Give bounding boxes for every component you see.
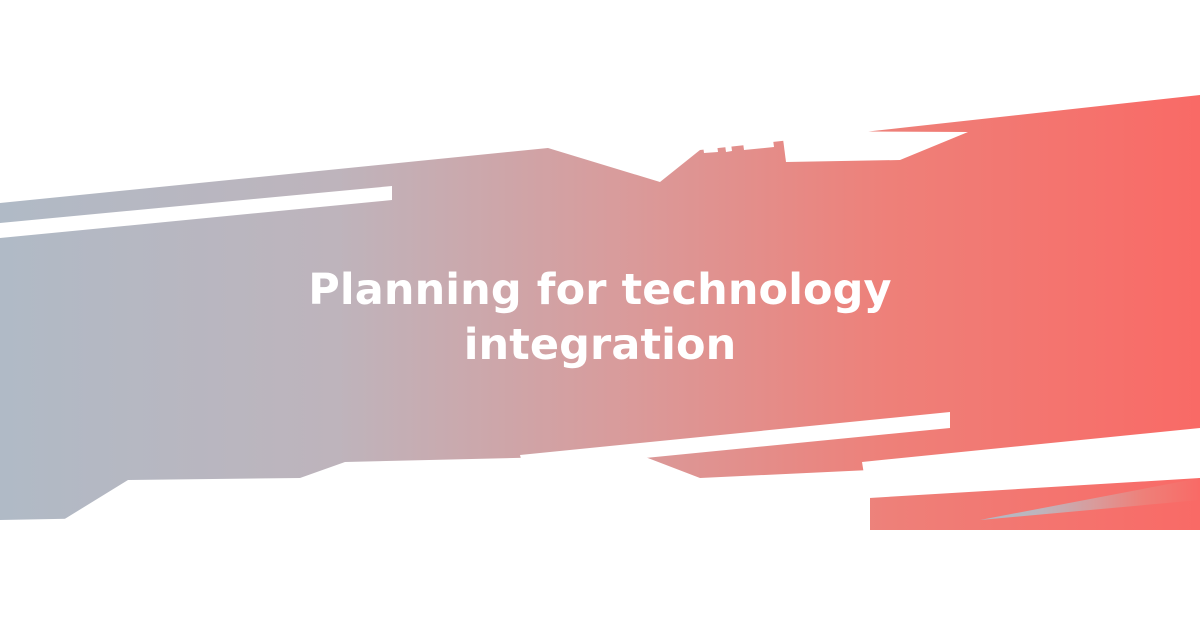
banner-graphic: Planning for technology integration — [0, 0, 1200, 630]
main-gradient-panel — [0, 95, 1200, 530]
banner-background-svg — [0, 0, 1200, 630]
gradient-panel-group — [0, 95, 1200, 530]
